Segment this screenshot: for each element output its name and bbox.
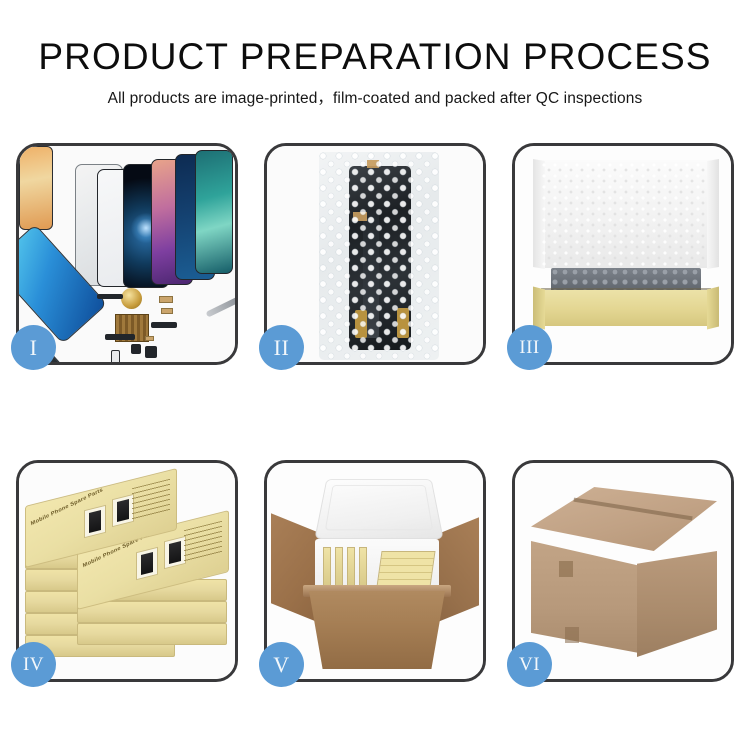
step-card-2: II [264, 143, 486, 365]
tape-patch [559, 561, 573, 577]
phone-teal [195, 150, 233, 274]
spec-text-lines [132, 479, 170, 520]
step-badge-6: VI [507, 642, 552, 687]
header: PRODUCT PREPARATION PROCESS All products… [0, 36, 750, 108]
product-window [112, 494, 134, 527]
carton-front-face [531, 541, 639, 653]
flex-cable-part [105, 334, 135, 340]
step-5-photo [267, 463, 483, 679]
product-window [84, 505, 106, 538]
foam-texture [541, 162, 711, 266]
step-badge-5: V [259, 642, 304, 687]
product-window [136, 547, 158, 580]
product-preparation-infographic: PRODUCT PREPARATION PROCESS All products… [0, 0, 750, 750]
step-card-3: III [512, 143, 734, 365]
step-card-6: VI [512, 460, 734, 682]
step-6-photo [515, 463, 731, 679]
yellow-inner-box [541, 290, 711, 326]
small-component [131, 344, 141, 354]
step-badge-2: II [259, 325, 304, 370]
process-step-grid: I II [16, 143, 735, 682]
step-badge-4: IV [11, 642, 56, 687]
step-4-photo: Mobile Phone Spare Parts Mobile Phone Sp… [19, 463, 235, 679]
carton-side-face [637, 551, 717, 657]
phone-orange [19, 146, 53, 230]
packed-box-upright [335, 547, 343, 587]
stacked-box [77, 623, 227, 645]
step-card-4: Mobile Phone Spare Parts Mobile Phone Sp… [16, 460, 238, 682]
box-stack: Mobile Phone Spare Parts Mobile Phone Sp… [25, 485, 235, 671]
step-badge-1: I [11, 325, 56, 370]
gold-connector-part [145, 336, 154, 341]
flex-cable-part [97, 294, 123, 299]
sim-tray-part [111, 350, 120, 362]
spec-text-lines [184, 521, 222, 562]
flex-cable-part [151, 322, 177, 328]
gold-connector-part [159, 296, 173, 303]
foam-liner-lid [539, 160, 713, 268]
step-card-1: I [16, 143, 238, 365]
page-title: PRODUCT PREPARATION PROCESS [0, 36, 750, 77]
tweezers-tool [206, 296, 235, 317]
step-badge-3: III [507, 325, 552, 370]
packed-box-upright [323, 547, 331, 587]
gold-connector-part [161, 308, 173, 314]
step-3-photo [515, 146, 731, 362]
product-window [164, 536, 186, 569]
kraft-carton-body [309, 591, 445, 669]
step-1-photo [19, 146, 235, 362]
styrofoam-lid [314, 479, 443, 539]
speaker-coil-part [121, 288, 142, 309]
bubble-texture [319, 152, 439, 360]
step-2-photo [267, 146, 483, 362]
packed-box-upright [359, 547, 367, 587]
bubble-wrap-bag [319, 152, 439, 360]
packed-box-upright [347, 547, 355, 587]
tape-patch [565, 627, 579, 643]
packed-boxes-flat [376, 551, 435, 587]
step-card-5: V [264, 460, 486, 682]
page-subtitle: All products are image-printed，film-coat… [0, 86, 750, 108]
small-component [145, 346, 157, 358]
